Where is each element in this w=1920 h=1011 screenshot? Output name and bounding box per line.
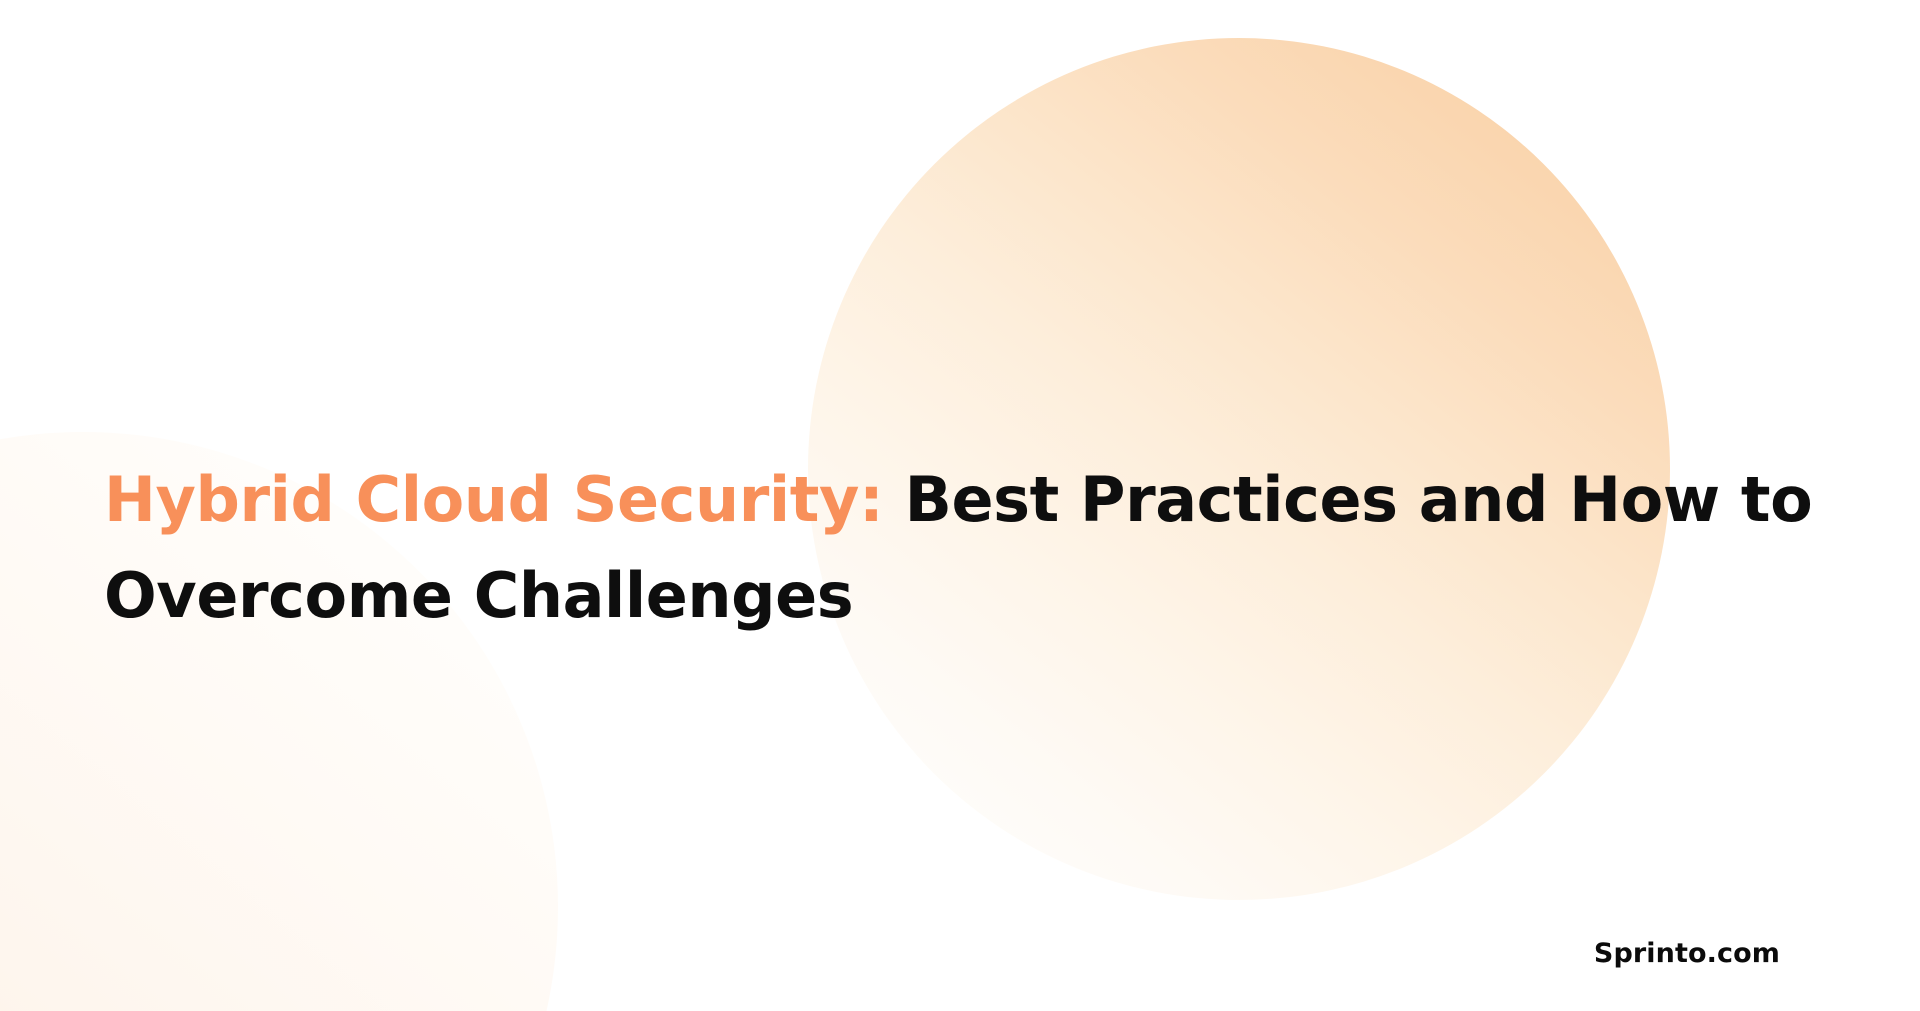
- slide-canvas: Hybrid Cloud Security: Best Practices an…: [0, 0, 1920, 1011]
- brand-wordmark: Sprinto.com: [1594, 938, 1780, 969]
- page-title-accent-segment: Hybrid Cloud Security:: [104, 463, 883, 536]
- page-title: Hybrid Cloud Security: Best Practices an…: [104, 452, 1864, 644]
